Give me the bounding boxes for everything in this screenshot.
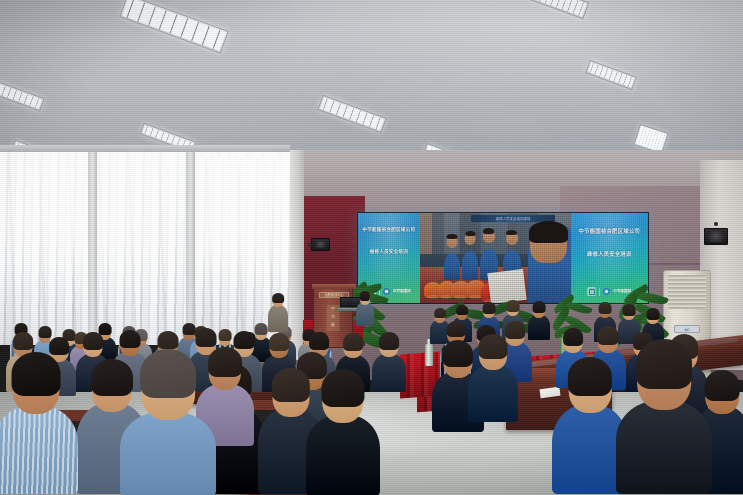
person-hair — [140, 349, 196, 398]
person-hair — [321, 369, 364, 407]
person-hair — [478, 334, 507, 360]
window-mullion — [186, 145, 195, 345]
wall-speaker-left — [311, 238, 330, 251]
logo-divider — [599, 288, 600, 296]
person-hair — [272, 368, 310, 402]
panel-company-line: 中节能国祯合肥区域公司 — [358, 227, 420, 233]
conference-room-photo: 中节能国祯合肥区域公司 维修人员安全培训 中节能国祯 维修人员安全培训现场 — [0, 0, 743, 495]
person-torso — [306, 415, 380, 495]
audience-member — [616, 344, 712, 494]
person-hair — [360, 291, 370, 300]
led-panel-center: 维修人员安全培训现场 — [420, 213, 571, 303]
video-foreground-person — [528, 226, 570, 303]
person-hair — [533, 301, 546, 312]
person-hair — [563, 328, 583, 346]
person-hair — [598, 326, 619, 345]
person-hair — [529, 221, 568, 243]
person-hair — [272, 293, 284, 303]
person-hair — [623, 304, 636, 315]
person-hair — [456, 305, 468, 315]
audience-member — [356, 288, 374, 326]
person-hair — [13, 332, 33, 350]
audience-member — [468, 330, 518, 422]
video-worker — [462, 251, 479, 280]
person-torso — [268, 305, 288, 332]
panel-subject-line: 维修人员安全培训 — [571, 250, 648, 258]
person-hair — [647, 308, 660, 319]
person-torso — [616, 401, 712, 494]
person-hair — [599, 302, 612, 313]
window-head-trim — [0, 145, 290, 152]
person-hair — [379, 332, 399, 350]
person-torso — [468, 365, 518, 422]
person-torso — [120, 412, 216, 495]
logo-mark-icon — [587, 287, 596, 296]
person-hair — [196, 328, 217, 347]
person-hair — [269, 333, 289, 351]
audience-member — [120, 360, 216, 495]
person-hair — [447, 321, 466, 337]
person-torso — [0, 406, 78, 494]
person-hair — [507, 300, 520, 311]
window-mullion — [88, 145, 97, 345]
person-hair — [434, 308, 446, 318]
logo-circle-icon — [603, 288, 610, 295]
panel-company-line: 中节能国祯合肥区域公司 — [571, 227, 648, 235]
audience-member — [268, 288, 288, 332]
person-hair — [12, 352, 61, 395]
lectern-top — [312, 284, 356, 289]
speaker-mount — [714, 222, 718, 226]
audience-member — [0, 352, 78, 494]
video-worker — [444, 253, 461, 280]
wall-speaker-right — [704, 228, 728, 245]
led-video-wall[interactable]: 中节能国祯合肥区域公司 维修人员安全培训 中节能国祯 维修人员安全培训现场 — [357, 212, 649, 304]
speaker-mount — [308, 243, 312, 247]
training-video-still: 维修人员安全培训现场 — [420, 213, 571, 303]
logo-wordmark: 中节能国祯 — [393, 289, 411, 294]
person-hair — [568, 357, 612, 396]
person-hair — [309, 332, 329, 350]
panel-subject-line: 维修人员安全培训 — [358, 249, 420, 255]
person-hair — [343, 333, 363, 351]
person-hair — [636, 339, 692, 388]
person-hair — [483, 302, 496, 313]
person-hair — [158, 331, 179, 350]
audience-member — [306, 366, 380, 495]
person-torso — [356, 302, 374, 326]
person-hair — [120, 330, 141, 349]
